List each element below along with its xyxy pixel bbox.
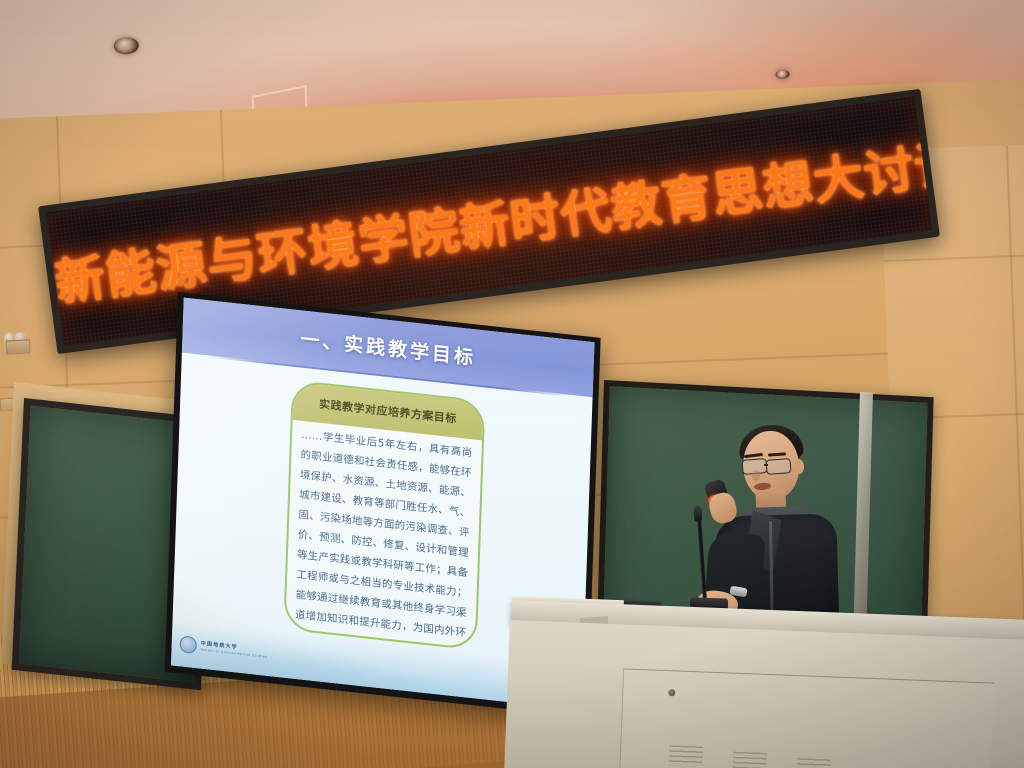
- lecture-hall-photo: 新能源与环境学院新时代教育思想大讨论报告会 一、实践教学目标 实践教学对应培养方…: [0, 0, 1024, 768]
- ceiling-spotlight: [775, 70, 789, 80]
- podium-vent: [669, 745, 704, 766]
- university-logo-text: 中国地质大学 School of Environmental Studies: [200, 642, 267, 659]
- podium-vent: [732, 752, 767, 768]
- glasses-bridge: [764, 464, 768, 466]
- emergency-light-fixture: [3, 331, 34, 353]
- slide-content-box: 实践教学对应培养方案目标 ……学生毕业后5年左右，具有高尚的职业道德和社会责任感…: [284, 380, 486, 651]
- slide-box-heading-text: 实践教学对应培养方案目标: [319, 396, 457, 427]
- glasses-icon: [766, 458, 792, 475]
- podium: [504, 620, 1024, 768]
- wall-seam: [1006, 145, 1024, 665]
- podium-front-panel: [619, 668, 994, 768]
- podium-vent: [796, 758, 831, 768]
- microphone-capsule: [693, 506, 702, 523]
- slide-box-body-text: ……学生毕业后5年左右，具有高尚的职业道德和社会责任感，能够在环境保护、水资源、…: [285, 420, 482, 651]
- ceiling-spotlight: [113, 37, 139, 55]
- slide-title: 一、实践教学目标: [300, 325, 476, 371]
- presenter-ear: [793, 459, 805, 475]
- emergency-light-body: [6, 339, 31, 354]
- wall-seam: [884, 252, 1024, 262]
- podium-lock-knob[interactable]: [668, 689, 675, 696]
- university-seal-icon: [179, 636, 197, 655]
- presenter-nose: [752, 470, 760, 481]
